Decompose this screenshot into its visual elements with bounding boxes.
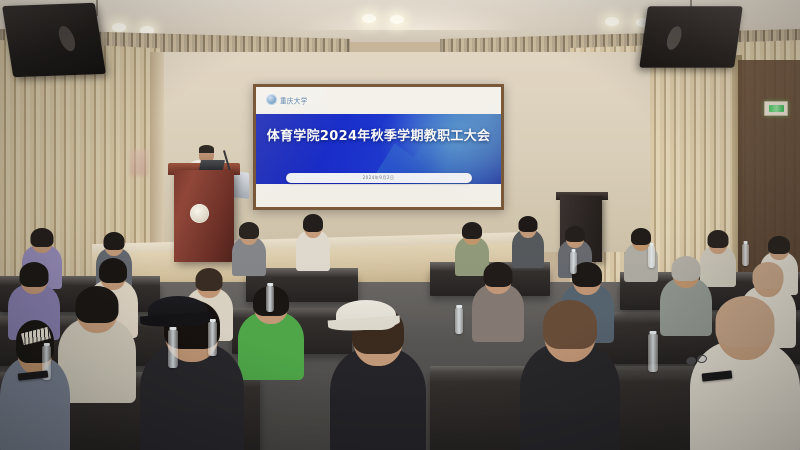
attendee-hair: [672, 256, 701, 281]
attendee: [512, 216, 544, 266]
attendee-hair: [753, 262, 784, 289]
bottle-cap: [743, 241, 748, 244]
ceiling-speaker-left: [2, 3, 106, 77]
speaker-cone-icon: [664, 25, 684, 51]
downlight-1: [112, 23, 126, 32]
attendee: [232, 222, 266, 274]
slide-subtitle: 2024年9月2日: [363, 175, 395, 181]
attendee-hair: [484, 262, 513, 287]
projection-screen-surface: 重庆大学 体育学院2024年秋季学期教职工大会 2024年9月2日: [256, 87, 501, 207]
water-bottle: [168, 330, 178, 368]
attendee-hair: [196, 268, 223, 291]
water-bottle: [742, 244, 749, 266]
downlight-4: [390, 15, 404, 24]
attendee-hair: [303, 214, 323, 232]
attendee-hair: [631, 228, 651, 245]
bottle-cap: [571, 249, 576, 252]
ceiling-speaker-right: [639, 6, 743, 67]
bottle-cap: [267, 283, 273, 286]
water-bottle: [648, 246, 655, 268]
bottle-cap: [43, 343, 49, 346]
exit-sign-glow: [769, 105, 784, 112]
attendee-hair: [768, 236, 790, 254]
attendee: [472, 262, 524, 338]
exit-sign-icon: [764, 101, 788, 116]
conference-hall-photo: 重庆大学 体育学院2024年秋季学期教职工大会 2024年9月2日: [0, 0, 800, 450]
slide-subtitle-pill: 2024年9月2日: [286, 173, 472, 183]
slide-logo: 重庆大学: [266, 94, 308, 105]
water-bottle: [266, 286, 274, 312]
water-bottle: [208, 322, 217, 356]
water-bottle: [648, 334, 658, 372]
attendee-hair: [99, 258, 127, 283]
bottle-cap: [456, 305, 462, 308]
slide-logo-text: 重庆大学: [280, 94, 308, 106]
attendee-hair: [708, 230, 729, 248]
downlight-5: [605, 17, 619, 26]
projection-screen[interactable]: 重庆大学 体育学院2024年秋季学期教职工大会 2024年9月2日: [253, 84, 504, 210]
attendee-hair: [239, 222, 259, 239]
wall-pier-left: [150, 52, 164, 257]
attendee-hair: [565, 226, 585, 242]
wall-sconce: [130, 150, 148, 176]
water-bottle: [570, 252, 577, 274]
lectern-laptop: [199, 160, 225, 170]
attendee-hair: [76, 286, 119, 323]
bottle-cap: [170, 327, 177, 330]
attendee-hair: [519, 216, 538, 232]
attendee-hair: [104, 232, 125, 250]
bottle-cap: [650, 331, 657, 334]
speaker-cone-icon: [56, 24, 79, 52]
water-bottle: [455, 308, 463, 334]
bottle-cap: [209, 319, 215, 322]
attendee: [296, 214, 330, 268]
lectern: [174, 170, 234, 262]
presenter-hair: [199, 145, 214, 153]
attendee-hair: [543, 300, 597, 349]
ceiling-curve: [290, 0, 530, 30]
attendee: [520, 300, 620, 450]
bottle-cap: [649, 243, 654, 246]
stage-confidence-monitor: [233, 171, 249, 199]
downlight-3: [362, 14, 376, 23]
attendee-hair: [716, 296, 775, 347]
university-emblem-icon: [266, 94, 277, 105]
attendee-hair: [20, 262, 49, 287]
attendee-hair: [462, 222, 482, 239]
slide-title: 体育学院2024年秋季学期教职工大会: [256, 125, 501, 144]
attendee-hair: [31, 228, 54, 247]
podium-crest-icon: [190, 204, 209, 223]
